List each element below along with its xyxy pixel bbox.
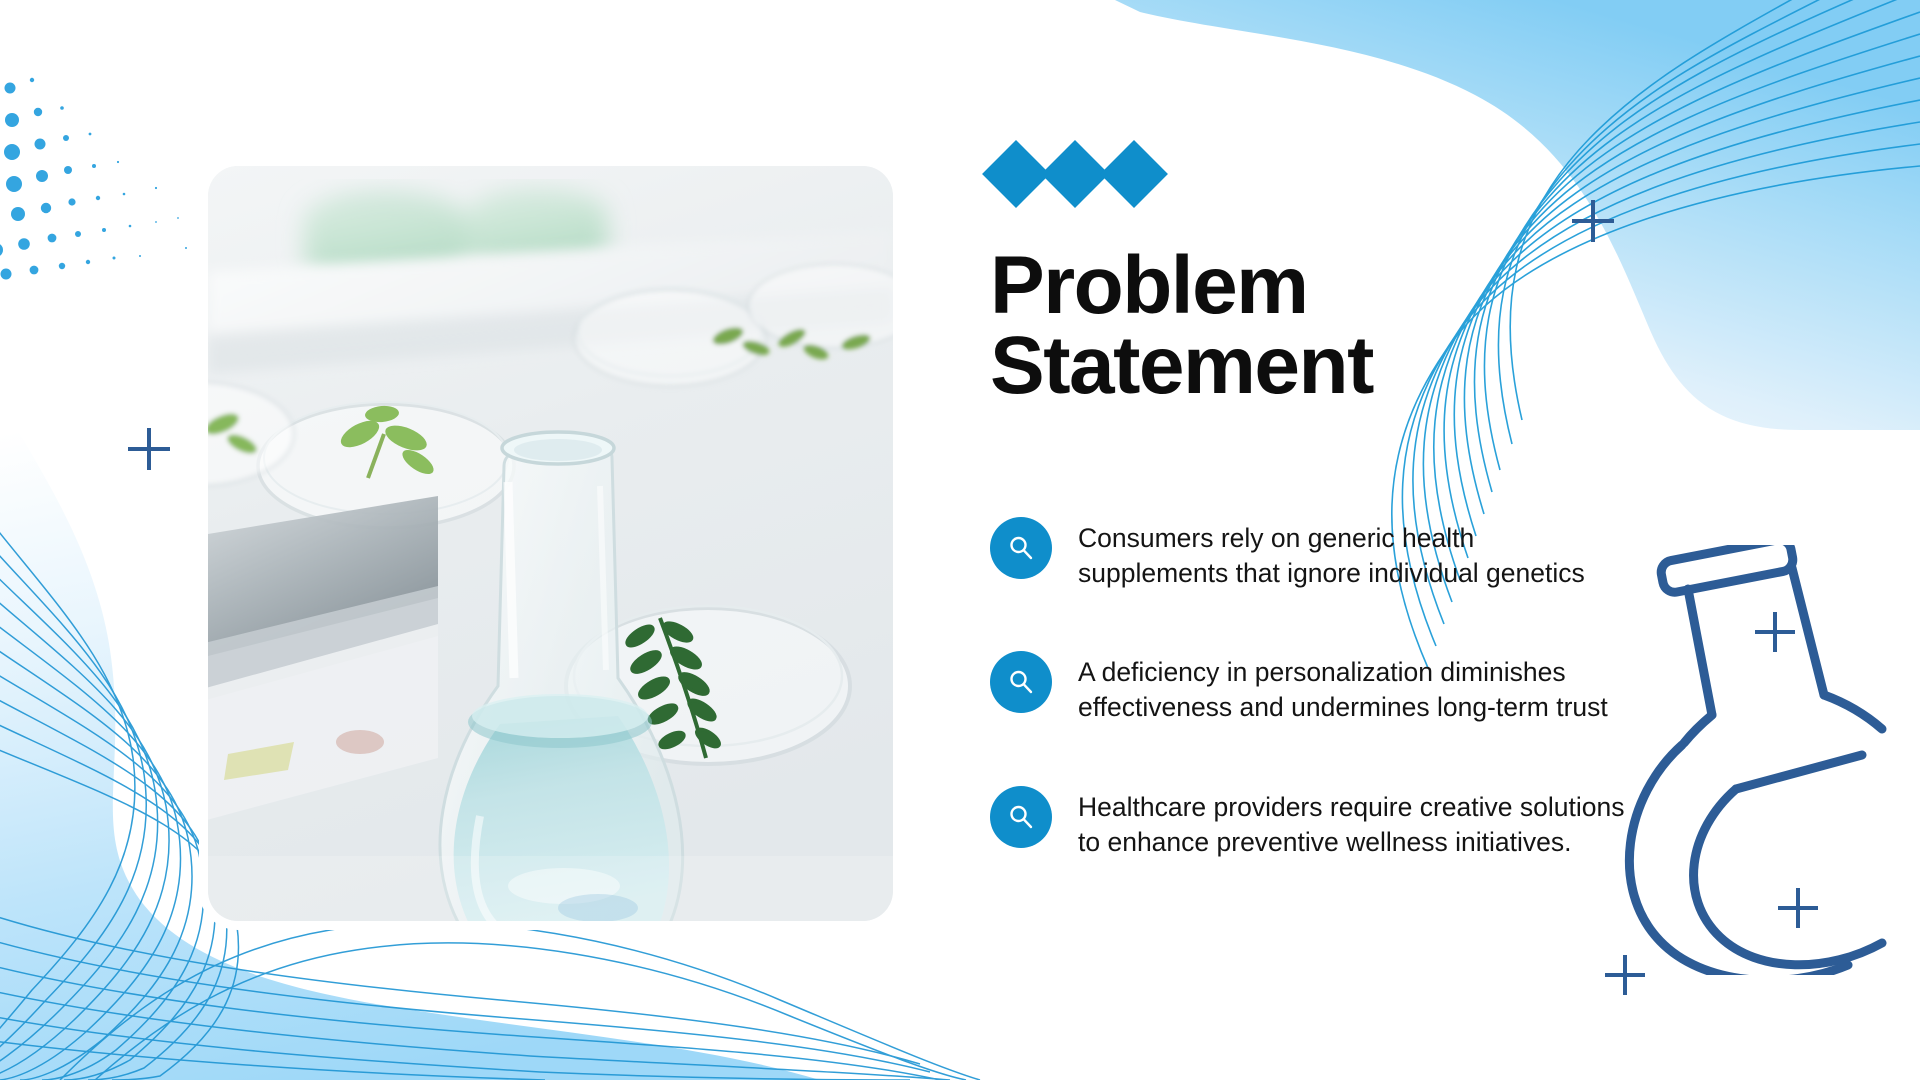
magnifier-icon xyxy=(990,517,1052,579)
halftone-dots-pattern xyxy=(0,70,218,280)
plus-flask-lower xyxy=(1778,888,1818,928)
plus-left xyxy=(128,428,170,470)
bullet-list: Consumers rely on generic health supplem… xyxy=(990,515,1770,860)
content-column: Problem Statement Consumers rely on gene… xyxy=(990,150,1770,860)
diamond-marker xyxy=(982,140,1050,208)
list-item-text: Healthcare providers require creative so… xyxy=(1078,784,1624,860)
list-item: Consumers rely on generic health supplem… xyxy=(990,515,1770,591)
lab-photo-illustration xyxy=(208,166,893,921)
list-item: A deficiency in personalization diminish… xyxy=(990,649,1770,725)
magnifier-icon xyxy=(990,651,1052,713)
lab-photo-image xyxy=(208,166,893,921)
lab-photo-card xyxy=(208,166,893,921)
magnifier-icon xyxy=(990,786,1052,848)
page-title: Problem Statement xyxy=(990,246,1770,407)
list-item: Healthcare providers require creative so… xyxy=(990,784,1770,860)
diamond-marker xyxy=(1041,140,1109,208)
diamond-marker-group xyxy=(992,150,1770,198)
list-item-text: A deficiency in personalization diminish… xyxy=(1078,649,1608,725)
diamond-marker xyxy=(1100,140,1168,208)
list-item-text: Consumers rely on generic health supplem… xyxy=(1078,515,1585,591)
plus-bottom xyxy=(1605,955,1645,995)
slide-root: Problem Statement Consumers rely on gene… xyxy=(0,0,1920,1080)
